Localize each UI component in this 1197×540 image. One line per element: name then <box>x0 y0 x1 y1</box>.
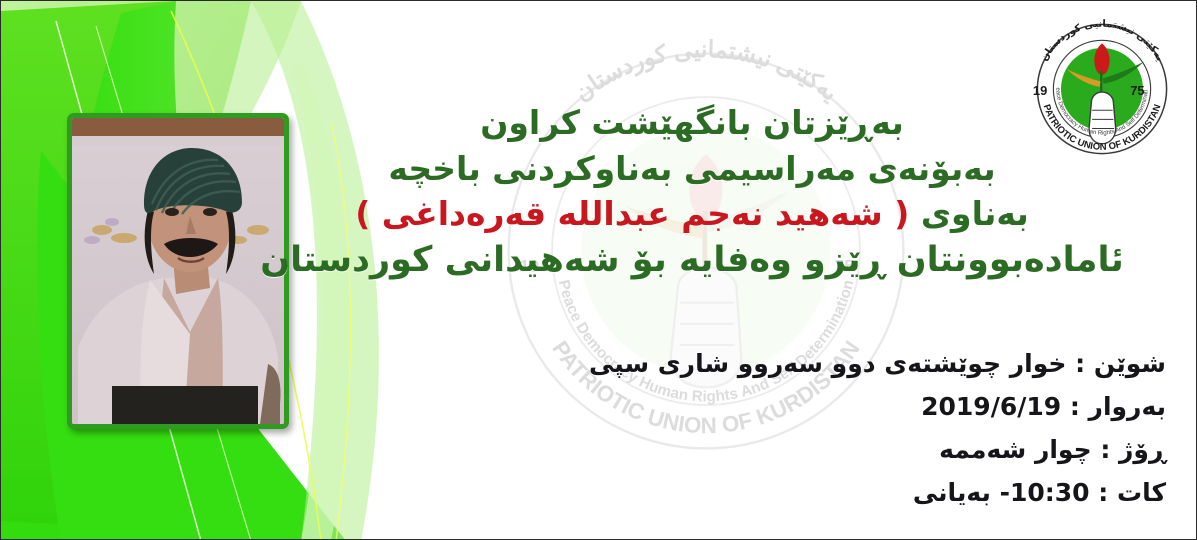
headline-line-2: بەبۆنەی مەراسیمی بەناوکردنی باخچە <box>212 151 1172 187</box>
headline-block: بەڕێزتان بانگهێشت کراون بەبۆنەی مەراسیمی… <box>212 105 1172 290</box>
headline-line-1: بەڕێزتان بانگهێشت کراون <box>212 105 1172 141</box>
headline-name-prefix: بەناوی <box>921 194 1029 233</box>
headline-line-4: ئامادەبوونتان ڕێزو وەفایە بۆ شەهیدانی کو… <box>212 242 1172 280</box>
event-details-block: شوێن : خوار چوێشتەی دوو سەروو شاری سپی ب… <box>566 349 1166 521</box>
detail-date: بەروار : 2019/6/19 <box>566 392 1166 421</box>
detail-day: ڕۆژ : چوار شەممە <box>566 435 1166 464</box>
invitation-poster: 19 75 PATRIOTIC UNION OF KURDISTAN Peace… <box>0 0 1197 540</box>
detail-time: کات : 10:30- بەیانی <box>566 478 1166 507</box>
detail-location: شوێن : خوار چوێشتەی دوو سەروو شاری سپی <box>566 349 1166 378</box>
headline-line-3: بەناوی ( شەهید نەجم عبدالله قەرەداغی ) <box>212 196 1172 232</box>
martyr-name: ( شەهید نەجم عبدالله قەرەداغی ) <box>355 194 909 233</box>
logo-year-left: 19 <box>1033 83 1047 98</box>
